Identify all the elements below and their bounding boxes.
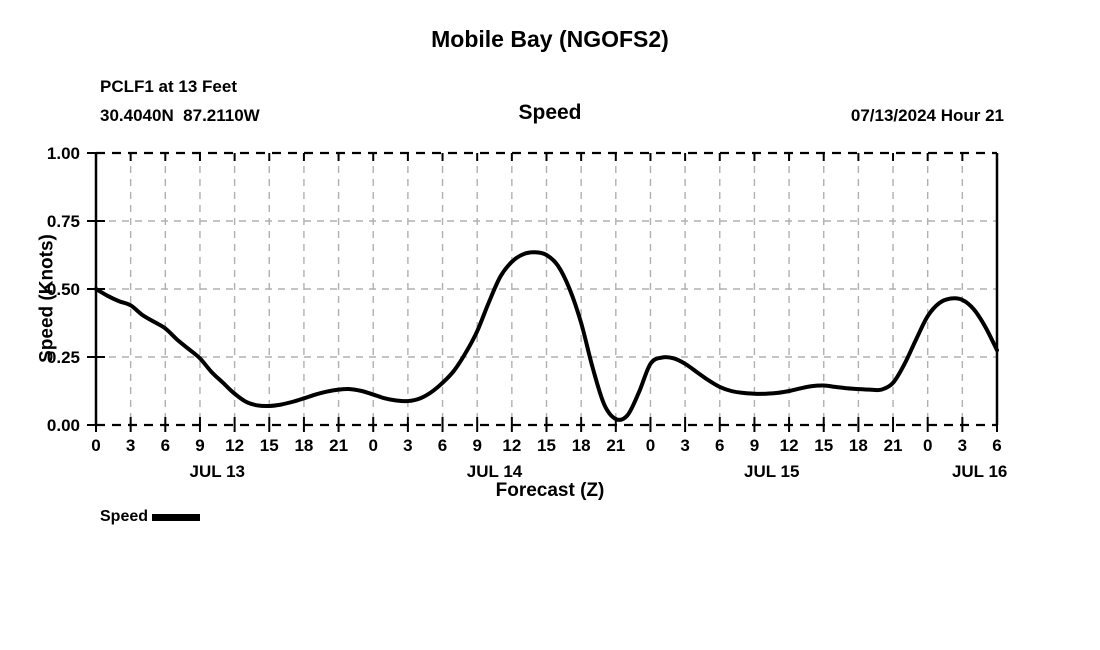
x-tick-label: 9 [750, 436, 759, 455]
day-label: JUL 14 [467, 462, 523, 481]
legend: Speed [100, 509, 200, 525]
x-tick-label: 0 [368, 436, 377, 455]
x-tick-label: 9 [472, 436, 481, 455]
x-tick-label: 18 [849, 436, 868, 455]
chart-page: Mobile Bay (NGOFS2) PCLF1 at 13 Feet 30.… [0, 0, 1100, 650]
legend-label: Speed [100, 509, 148, 525]
speed-forecast-chart: 0.000.250.500.751.00 0369121518210369121… [0, 0, 1100, 650]
x-tick-labels: 036912151821036912151821036912151821036 [91, 436, 1001, 455]
x-tick-label: 0 [923, 436, 932, 455]
x-tick-label: 6 [438, 436, 447, 455]
x-tick-label: 6 [992, 436, 1001, 455]
x-tick-label: 0 [91, 436, 100, 455]
y-tick-label: 0.25 [47, 348, 80, 367]
y-tick-label: 1.00 [47, 144, 80, 163]
x-tick-label: 21 [329, 436, 348, 455]
y-tick-label: 0.50 [47, 280, 80, 299]
x-tick-label: 15 [537, 436, 556, 455]
x-tick-label: 3 [958, 436, 967, 455]
x-tick-label: 0 [646, 436, 655, 455]
y-tick-labels: 0.000.250.500.751.00 [47, 144, 80, 435]
x-tick-label: 12 [502, 436, 521, 455]
day-label: JUL 16 [952, 462, 1007, 481]
x-tick-label: 9 [195, 436, 204, 455]
x-tick-label: 3 [403, 436, 412, 455]
x-tick-label: 18 [572, 436, 591, 455]
x-tick-label: 12 [780, 436, 799, 455]
x-tick-label: 18 [294, 436, 313, 455]
x-tick-label: 21 [884, 436, 903, 455]
y-tick-label: 0.00 [47, 416, 80, 435]
day-label: JUL 13 [190, 462, 245, 481]
y-tick-label: 0.75 [47, 212, 80, 231]
day-label: JUL 15 [744, 462, 799, 481]
grid-lines [96, 153, 997, 425]
x-tick-label: 3 [680, 436, 689, 455]
x-tick-label: 6 [161, 436, 170, 455]
x-tick-label: 15 [814, 436, 833, 455]
x-tick-label: 12 [225, 436, 244, 455]
legend-line-swatch [152, 514, 200, 521]
x-tick-label: 21 [606, 436, 625, 455]
x-tick-label: 6 [715, 436, 724, 455]
x-tick-label: 15 [260, 436, 279, 455]
day-labels: JUL 13JUL 14JUL 15JUL 16 [190, 462, 1008, 481]
x-tick-label: 3 [126, 436, 135, 455]
